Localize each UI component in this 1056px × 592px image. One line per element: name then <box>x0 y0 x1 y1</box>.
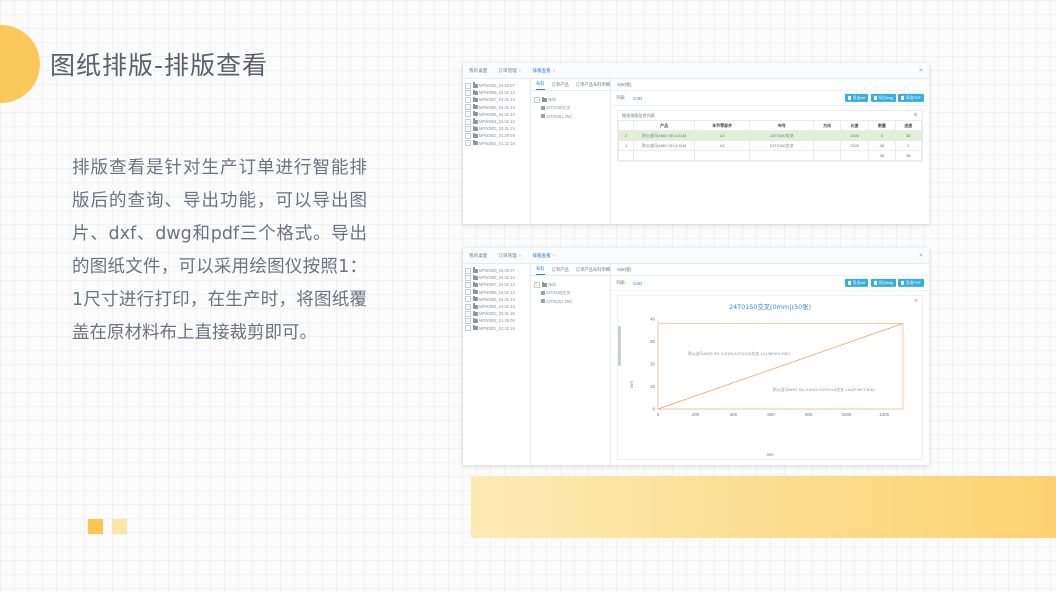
folder-icon <box>542 98 547 102</box>
chart-ylabel: mm <box>629 381 634 388</box>
folder-icon <box>473 127 478 131</box>
folder-icon <box>473 112 478 116</box>
scrollbar-thumb[interactable] <box>618 326 621 366</box>
fabric-tree-item[interactable]: 24T0150交叉 <box>534 104 610 112</box>
table-row[interactable]: 2 防火战马AMG SH-3.61M 1A 24T0150交叉 1300 0 3… <box>619 131 922 141</box>
cell-part: 1A <box>695 141 750 151</box>
layout-info-table: 产品 车节零部件 布号 方向 长度 数量 进度 2 防火战马AMG SH-3.6 <box>618 120 922 161</box>
app-window-cad-view: 我的桌面 订单管理 × 排版查看 × × −MP00009_04.03 07 −… <box>463 248 929 465</box>
expand-icon[interactable]: − <box>465 111 471 117</box>
folder-icon <box>473 326 478 330</box>
window1-fabric-panel: 布料 订单产品 订单产品布料明细 −布料 24T0150交叉 24T020(1.… <box>531 79 611 224</box>
tree-item[interactable]: −MP00004_04.02 13 <box>465 118 530 125</box>
tree-item[interactable]: −MP00006_04.02 14 <box>465 289 530 296</box>
cell-index: 1 <box>619 141 634 151</box>
tree-item-label: MP00006_04.02 14 <box>479 105 515 110</box>
window2-inner-tabbar: 布料 订单产品 订单产品布料明细 <box>531 264 610 276</box>
tree-item-label: MP00001_01.22 18 <box>479 141 515 146</box>
tree-item[interactable]: −MP00008_04.02 14 <box>465 274 530 281</box>
window1-right-pane: 0(50张) 列表 CAD 导出dxf 导出dwg 导出PDF 图纸排版信息列表… <box>611 79 929 224</box>
export-pdf-button[interactable]: 导出PDF <box>898 279 924 287</box>
svg-text:防火战马AMG SH-3.61M-24T0150交叉-1A(: 防火战马AMG SH-3.61M-24T0150交叉-1A(38*0*1300) <box>688 351 790 356</box>
cell-progress: 0 <box>895 141 921 151</box>
view-tab-list[interactable]: 列表 <box>616 95 625 101</box>
svg-text:0: 0 <box>656 412 659 417</box>
col-progress: 进度 <box>895 121 921 131</box>
gear-icon[interactable]: ⚙ <box>914 299 918 303</box>
decorative-bottom-bar <box>471 476 1056 538</box>
cell-product: 防火战马AMG SH-3.61M <box>634 131 695 141</box>
tree-item-label: MP00002_01.29 09 <box>479 318 515 323</box>
window1-tab-desktop-label: 我的桌面 <box>469 68 487 74</box>
folder-icon <box>473 305 478 309</box>
expand-icon[interactable]: − <box>465 289 471 295</box>
expand-icon[interactable]: − <box>465 268 471 274</box>
file-icon <box>541 114 545 119</box>
close-icon[interactable]: × <box>519 253 522 258</box>
window2-tabbar: 我的桌面 订单管理 × 排版查看 × × <box>463 248 929 264</box>
tree-item[interactable]: −MP00002_01.29 09 <box>465 132 530 139</box>
tree-item-label: MP00003_03.31 15 <box>479 311 515 316</box>
tree-item-label: MP00007_04.02 14 <box>479 97 515 102</box>
cell-length <box>840 151 869 161</box>
decorative-square-solid <box>88 519 103 534</box>
cad-layout-chart: 020040060080010001200010203040防火战马AMG SH… <box>628 313 913 425</box>
cell-quantity: 38 <box>869 141 895 151</box>
expand-icon[interactable]: − <box>465 275 471 281</box>
expand-icon[interactable]: − <box>465 133 471 139</box>
svg-text:30: 30 <box>650 339 655 344</box>
tree-item[interactable]: −MP00008_04.02 14 <box>465 89 530 96</box>
expand-icon[interactable]: − <box>465 282 471 288</box>
tree-item[interactable]: −MP00003_03.31 15 <box>465 125 530 132</box>
export-dxf-label: 导出dxf <box>853 281 866 286</box>
fabric-tree-item-label: 24T020(1.2M) <box>546 114 572 119</box>
cell-fabric-no <box>750 151 814 161</box>
folder-icon <box>473 283 478 287</box>
cell-part: 1A <box>695 131 750 141</box>
tree-item-label: MP00007_04.02 14 <box>479 282 515 287</box>
fabric-tree-root[interactable]: −布料 <box>534 281 610 289</box>
inner-tab-fabric[interactable]: 布料 <box>536 81 545 90</box>
table-total-row: 38 38 <box>619 151 922 161</box>
table-header-row: 产品 车节零部件 布号 方向 长度 数量 进度 <box>619 121 922 131</box>
window1-body: −MP00009_04.03 07 −MP00008_04.02 14 −MP0… <box>463 79 929 224</box>
cell-product <box>634 151 695 161</box>
window2-tab-layout-view[interactable]: 排版查看 × <box>532 253 555 259</box>
app-window-list-view: 我的桌面 订单管理 × 排版查看 × × −MP00009_04.03 07 −… <box>463 63 929 224</box>
folder-icon <box>473 276 478 280</box>
cell-length: 1300 <box>840 131 869 141</box>
fabric-tree-root-label: 布料 <box>548 97 556 103</box>
export-pdf-label: 导出PDF <box>906 281 921 286</box>
col-fabric-no: 布号 <box>750 121 814 131</box>
tree-item-label: MP00001_01.22 18 <box>479 326 515 331</box>
window1-tab-desktop[interactable]: 我的桌面 <box>469 68 487 74</box>
window2-order-tree: −MP00009_04.03 07 −MP00008_04.02 14 −MP0… <box>463 264 531 465</box>
folder-icon <box>473 91 478 95</box>
folder-icon <box>542 283 547 287</box>
folder-icon <box>473 269 478 273</box>
svg-text:200: 200 <box>692 412 700 417</box>
svg-text:800: 800 <box>805 412 813 417</box>
window1-tabbar: 我的桌面 订单管理 × 排版查看 × × <box>463 63 929 79</box>
download-icon <box>901 96 904 99</box>
svg-text:防火战马AMG SH-3.61M-24T0150交叉-1A(: 防火战马AMG SH-3.61M-24T0150交叉-1A(0*38*1300) <box>772 387 874 392</box>
svg-text:20: 20 <box>650 362 655 367</box>
expand-icon[interactable]: − <box>465 296 471 302</box>
chart-xlabel: mm <box>618 452 922 457</box>
tree-item[interactable]: −MP00005_04.02 14 <box>465 296 530 303</box>
window2-count-label: 0(50张) <box>611 264 929 276</box>
tree-item[interactable]: −MP00009_04.03 07 <box>465 82 530 89</box>
expand-icon[interactable]: − <box>465 311 471 317</box>
fabric-tree-item-label: 24T0150交叉 <box>546 105 570 111</box>
tree-item[interactable]: −MP00007_04.02 14 <box>465 281 530 288</box>
inner-tab-order-product[interactable]: 订单产品 <box>552 267 569 275</box>
tree-item-label: MP00008_04.02 14 <box>479 90 515 95</box>
col-part: 车节零部件 <box>695 121 750 131</box>
tree-item-label: MP00002_01.29 09 <box>479 133 515 138</box>
export-dxf-button[interactable]: 导出dxf <box>845 94 868 102</box>
cell-fabric-no: 24T0150交叉 <box>750 141 814 151</box>
download-icon <box>874 96 877 99</box>
export-dwg-button[interactable]: 导出dwg <box>871 94 896 102</box>
tree-item[interactable]: −MP00007_04.02 14 <box>465 96 530 103</box>
svg-text:1200: 1200 <box>879 412 889 417</box>
download-icon <box>901 281 904 284</box>
tree-item-label: MP00005_04.02 14 <box>479 297 515 302</box>
expand-icon[interactable]: − <box>465 119 471 125</box>
expand-icon[interactable]: − <box>534 282 540 288</box>
window1-export-buttons: 导出dxf 导出dwg 导出PDF <box>845 94 924 102</box>
window2-right-pane: 0(50张) 列表 CAD 导出dxf 导出dwg 导出PDF ⚙ 24T015… <box>611 264 929 465</box>
view-tab-cad[interactable]: CAD <box>633 96 642 101</box>
folder-icon <box>473 319 478 323</box>
fabric-tree-root[interactable]: −布料 <box>534 96 610 104</box>
svg-text:0: 0 <box>652 407 655 412</box>
cell-progress: 38 <box>895 131 921 141</box>
expand-icon[interactable]: − <box>465 304 471 310</box>
window1-inner-tabbar: 布料 订单产品 订单产品布料明细 <box>531 79 610 91</box>
svg-text:40: 40 <box>650 317 655 322</box>
svg-text:600: 600 <box>767 412 775 417</box>
tree-item-label: MP00009_04.03 07 <box>479 268 515 273</box>
download-icon <box>874 281 877 284</box>
svg-text:1000: 1000 <box>841 412 851 417</box>
chart-title: 24T0150交叉[0mm](50张) <box>618 302 922 311</box>
expand-icon[interactable]: − <box>465 90 471 96</box>
fabric-tree-root-label: 布料 <box>548 282 556 288</box>
cell-length: 1300 <box>840 141 869 151</box>
close-icon[interactable]: × <box>519 68 522 73</box>
window1-tab-layout-view-label: 排版查看 <box>532 68 550 74</box>
inner-tab-fabric[interactable]: 布料 <box>536 266 545 275</box>
folder-icon <box>473 105 478 109</box>
gear-icon[interactable]: ⚙ <box>914 113 918 117</box>
export-dwg-label: 导出dwg <box>878 96 893 101</box>
view-tab-cad[interactable]: CAD <box>633 281 642 286</box>
window2-tab-desktop-label: 我的桌面 <box>469 253 487 259</box>
decorative-square-light <box>112 519 127 534</box>
tree-item[interactable]: −MP00004_04.02 13 <box>465 303 530 310</box>
file-icon <box>541 106 545 111</box>
col-quantity: 数量 <box>869 121 895 131</box>
table-caption: 图纸排版信息列表 <box>618 111 922 120</box>
folder-icon <box>473 98 478 102</box>
export-dxf-button[interactable]: 导出dxf <box>845 279 868 287</box>
cell-index <box>619 151 634 161</box>
tree-item-label: MP00006_04.02 14 <box>479 290 515 295</box>
export-dwg-label: 导出dwg <box>878 281 893 286</box>
window-close-icon[interactable]: × <box>919 252 923 259</box>
cell-index: 2 <box>619 131 634 141</box>
col-direction: 方向 <box>814 121 840 131</box>
window2-body: −MP00009_04.03 07 −MP00008_04.02 14 −MP0… <box>463 264 929 465</box>
cell-direction <box>814 151 840 161</box>
window1-count-label: 0(50张) <box>611 79 929 91</box>
cell-quantity-total: 38 <box>869 151 895 161</box>
layout-info-table-card: 图纸排版信息列表 ⚙ 产品 车节零部件 布号 方向 长度 数量 进度 <box>617 110 923 162</box>
tree-item[interactable]: −MP00002_01.29 09 <box>465 317 530 324</box>
window2-tab-desktop[interactable]: 我的桌面 <box>469 253 487 259</box>
tree-item[interactable]: −MP00003_03.31 15 <box>465 310 530 317</box>
cell-quantity: 0 <box>869 131 895 141</box>
window-close-icon[interactable]: × <box>919 67 923 74</box>
svg-text:400: 400 <box>729 412 737 417</box>
expand-icon[interactable]: − <box>465 104 471 110</box>
window2-export-buttons: 导出dxf 导出dwg 导出PDF <box>845 279 924 287</box>
window1-toolbar: 列表 CAD 导出dxf 导出dwg 导出PDF <box>611 91 929 106</box>
tree-item-label: MP00005_04.02 14 <box>479 112 515 117</box>
view-tab-list[interactable]: 列表 <box>616 280 625 286</box>
window2-toolbar: 列表 CAD 导出dxf 导出dwg 导出PDF <box>611 276 929 291</box>
folder-icon <box>473 312 478 316</box>
cell-direction <box>814 131 840 141</box>
close-icon[interactable]: × <box>553 253 556 258</box>
export-pdf-button[interactable]: 导出PDF <box>898 94 924 102</box>
window2-tab-order-mgmt[interactable]: 订单管理 × <box>498 253 521 259</box>
download-icon <box>848 96 851 99</box>
file-icon <box>541 299 545 304</box>
inner-tab-order-product-fabric-detail[interactable]: 订单产品布料明细 <box>576 267 610 275</box>
expand-icon[interactable]: − <box>465 97 471 103</box>
tree-item-label: MP00009_04.03 07 <box>479 83 515 88</box>
window2-tab-order-mgmt-label: 订单管理 <box>498 253 516 259</box>
folder-icon <box>473 141 478 145</box>
tree-item[interactable]: −MP00006_04.02 14 <box>465 104 530 111</box>
window1-tab-layout-view[interactable]: 排版查看 × <box>532 68 555 74</box>
export-dwg-button[interactable]: 导出dwg <box>871 279 896 287</box>
folder-icon <box>473 134 478 138</box>
window1-tab-order-mgmt-label: 订单管理 <box>498 68 516 74</box>
folder-icon <box>473 84 478 88</box>
svg-text:10: 10 <box>650 384 655 389</box>
decorative-circle <box>0 25 40 103</box>
fabric-tree-item-label: 24T0150交叉 <box>546 290 570 296</box>
tree-item[interactable]: −MP00005_04.02 14 <box>465 111 530 118</box>
tree-item[interactable]: −MP00001_01.22 18 <box>465 325 530 332</box>
fabric-tree-item[interactable]: 24T020(1.2M) <box>534 112 610 120</box>
fabric-tree-item[interactable]: 24T020(1.2M) <box>534 297 610 305</box>
cell-part <box>695 151 750 161</box>
cell-product: 防火战马AMG SH-3.61M <box>634 141 695 151</box>
cell-direction <box>814 141 840 151</box>
inner-tab-order-product-fabric-detail[interactable]: 订单产品布料明细 <box>576 82 610 90</box>
expand-icon[interactable]: − <box>465 126 471 132</box>
fabric-tree-item[interactable]: 24T0150交叉 <box>534 289 610 297</box>
expand-icon[interactable]: − <box>465 318 471 324</box>
folder-icon <box>473 120 478 124</box>
window2-fabric-panel: 布料 订单产品 订单产品布料明细 −布料 24T0150交叉 24T020(1.… <box>531 264 611 465</box>
folder-icon <box>473 297 478 301</box>
download-icon <box>848 281 851 284</box>
cad-chart-panel: ⚙ 24T0150交叉[0mm](50张) 020040060080010001… <box>617 295 923 460</box>
fabric-tree-item-label: 24T020(1.2M) <box>546 299 572 304</box>
window1-fabric-tree: −布料 24T0150交叉 24T020(1.2M) <box>531 91 610 120</box>
table-row[interactable]: 1 防火战马AMG SH-3.61M 1A 24T0150交叉 1300 38 … <box>619 141 922 151</box>
export-pdf-label: 导出PDF <box>906 96 921 101</box>
window2-tab-layout-view-label: 排版查看 <box>532 253 550 259</box>
window2-fabric-tree: −布料 24T0150交叉 24T020(1.2M) <box>531 276 610 305</box>
tree-item-label: MP00004_04.02 13 <box>479 119 515 124</box>
export-dxf-label: 导出dxf <box>853 96 866 101</box>
tree-item-label: MP00008_04.02 14 <box>479 275 515 280</box>
tree-item-label: MP00004_04.02 13 <box>479 304 515 309</box>
window1-tab-order-mgmt[interactable]: 订单管理 × <box>498 68 521 74</box>
col-product: 产品 <box>634 121 695 131</box>
expand-icon[interactable]: − <box>534 97 540 103</box>
cell-fabric-no: 24T0150交叉 <box>750 131 814 141</box>
inner-tab-order-product[interactable]: 订单产品 <box>552 82 569 90</box>
expand-icon[interactable]: − <box>465 325 471 331</box>
folder-icon <box>473 290 478 294</box>
tree-item[interactable]: −MP00009_04.03 07 <box>465 267 530 274</box>
col-index <box>619 121 634 131</box>
close-icon[interactable]: × <box>553 68 556 73</box>
col-length: 长度 <box>840 121 869 131</box>
window1-order-tree: −MP00009_04.03 07 −MP00008_04.02 14 −MP0… <box>463 79 531 224</box>
tree-item-label: MP00003_03.31 15 <box>479 126 515 131</box>
page-title: 图纸排版-排版查看 <box>50 46 268 82</box>
cell-progress-total: 38 <box>895 151 921 161</box>
body-paragraph: 排版查看是针对生产订单进行智能排版后的查询、导出功能，可以导出图片、dxf、dw… <box>72 152 367 350</box>
expand-icon[interactable]: − <box>465 140 471 146</box>
expand-icon[interactable]: − <box>465 83 471 89</box>
tree-item[interactable]: −MP00001_01.22 18 <box>465 140 530 147</box>
file-icon <box>541 291 545 296</box>
